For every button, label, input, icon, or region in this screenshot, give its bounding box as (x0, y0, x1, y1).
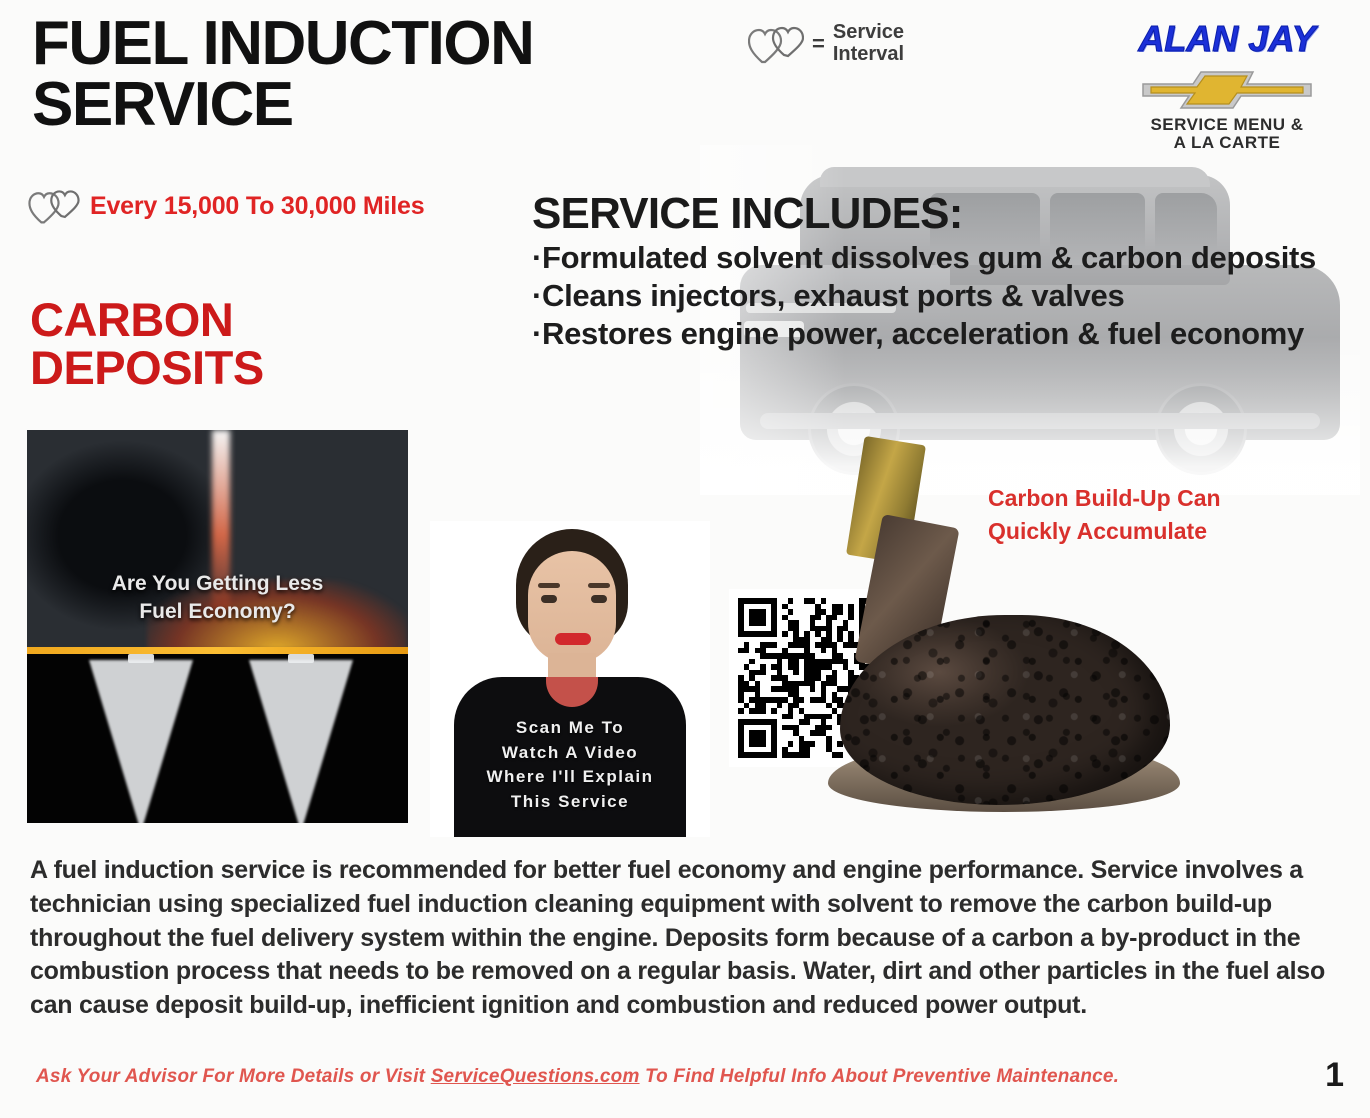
service-includes-heading: SERVICE INCLUDES: (532, 192, 1332, 237)
two-hearts-icon (28, 186, 80, 226)
list-item: Restores engine power, acceleration & fu… (532, 315, 1332, 353)
service-includes-section: SERVICE INCLUDES: Formulated solvent dis… (532, 192, 1332, 352)
list-item: Formulated solvent dissolves gum & carbo… (532, 239, 1332, 277)
interval-text: Every 15,000 To 30,000 Miles (90, 192, 424, 221)
video-thumbnail-caption: Scan Me To Watch A Video Where I'll Expl… (430, 716, 710, 815)
footer-note: Ask Your Advisor For More Details or Vis… (36, 1066, 1119, 1088)
carbon-deposits-heading: CARBON DEPOSITS (30, 296, 264, 392)
legend-equals-sign: = (812, 31, 825, 57)
footer-note-before: Ask Your Advisor For More Details or Vis… (36, 1066, 431, 1087)
brand-name: ALAN JAY (1112, 18, 1342, 60)
fuel-economy-photo: Are You Getting Less Fuel Economy? (27, 430, 408, 823)
footer-note-after: To Find Helpful Info About Preventive Ma… (640, 1066, 1120, 1087)
carbon-valve-caption: Carbon Build-Up Can Quickly Accumulate (988, 482, 1221, 547)
logo-subtitle: SERVICE MENU & A LA CARTE (1112, 116, 1342, 152)
page-title: FUEL INDUCTION SERVICE (32, 14, 533, 136)
description-paragraph: A fuel induction service is recommended … (30, 854, 1340, 1023)
fuel-economy-photo-caption: Are You Getting Less Fuel Economy? (27, 570, 408, 627)
legend-label: Service Interval (833, 22, 904, 65)
qr-code[interactable] (729, 589, 907, 767)
advisor-face (528, 551, 616, 663)
service-includes-list: Formulated solvent dissolves gum & carbo… (532, 239, 1332, 352)
video-thumbnail[interactable]: Scan Me To Watch A Video Where I'll Expl… (430, 521, 710, 837)
page-number: 1 (1325, 1056, 1344, 1095)
service-interval-row: Every 15,000 To 30,000 Miles (28, 186, 424, 226)
chevrolet-bowtie-icon (1137, 64, 1317, 114)
service-menu-page: FUEL INDUCTION SERVICE = Service Interva… (0, 0, 1370, 1118)
footer-note-link[interactable]: ServiceQuestions.com (431, 1066, 640, 1087)
dealer-logo: ALAN JAY SERVICE MENU & A LA CARTE (1112, 18, 1342, 152)
two-hearts-icon (748, 22, 804, 66)
service-interval-legend: = Service Interval (748, 22, 904, 66)
list-item: Cleans injectors, exhaust ports & valves (532, 277, 1332, 315)
